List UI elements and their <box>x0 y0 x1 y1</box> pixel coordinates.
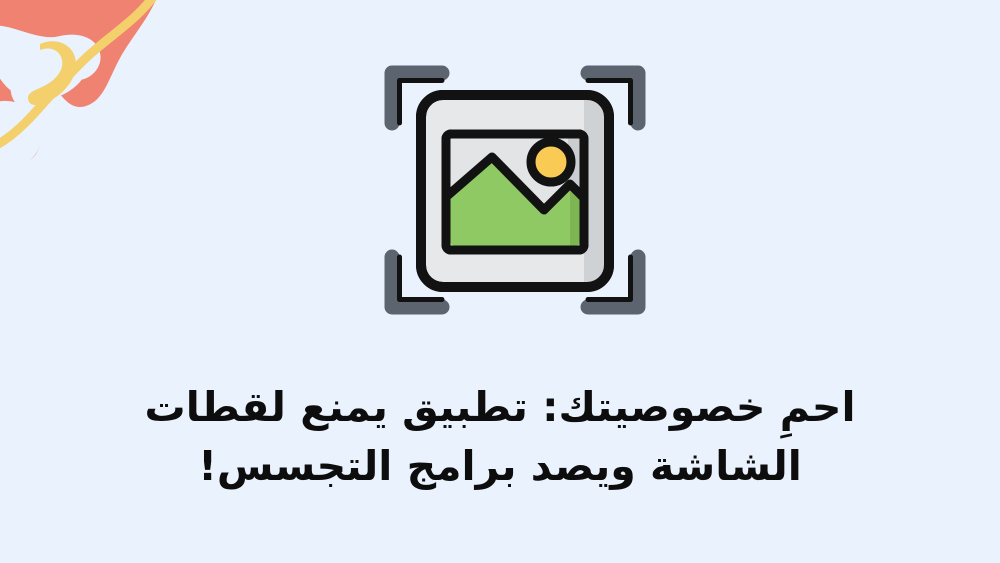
yellow-ribbon <box>0 0 158 148</box>
coral-shape <box>0 0 160 165</box>
headline-line-1: احمِ خصوصيتك: تطبيق يمنع لقطات <box>50 378 950 437</box>
inner-photo <box>446 134 586 250</box>
screenshot-capture-icon <box>370 45 660 335</box>
corner-blob-decoration <box>0 0 260 230</box>
yellow-crescent <box>28 41 76 105</box>
pale-swoosh-cutout-lower <box>0 101 42 168</box>
headline-line-2: الشاشة ويصد برامج التجسس! <box>50 437 950 496</box>
pale-swoosh-cutout <box>0 25 101 100</box>
promo-card: احمِ خصوصيتك: تطبيق يمنع لقطات الشاشة وي… <box>0 0 1000 563</box>
page-title: احمِ خصوصيتك: تطبيق يمنع لقطات الشاشة وي… <box>50 378 950 497</box>
